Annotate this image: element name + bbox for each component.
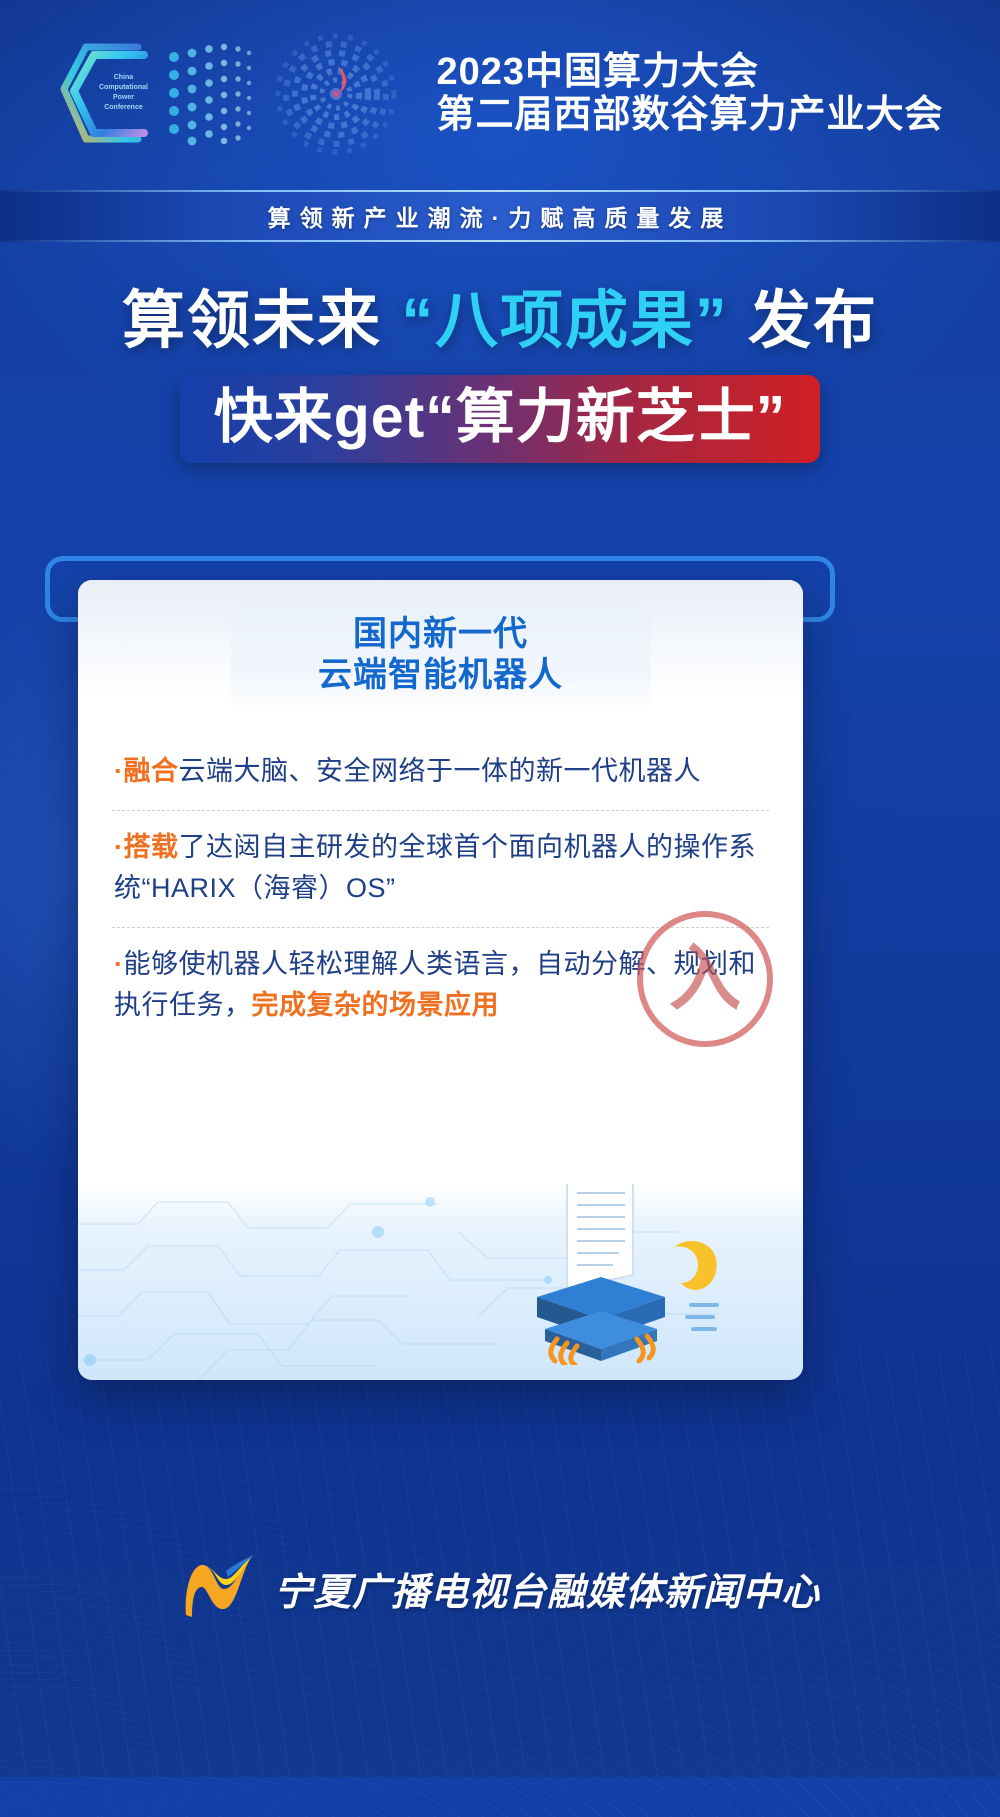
list-item: ·融合云端大脑、安全网络于一体的新一代机器人 [112, 735, 769, 810]
headline-line-1-highlight: “八项成果” [402, 286, 729, 356]
headline-line-1-part-2: 发布 [729, 286, 879, 356]
list-item: ·能够使机器人轻松理解人类语言，自动分解、规划和执行任务，完成复杂的场景应用 [112, 927, 769, 1044]
conference-title-line-2: 第二届西部数谷算力产业大会 [436, 94, 943, 137]
headline-line-2-banner: 快来get“算力新芝士” [180, 375, 821, 463]
content-card: 国内新一代 云端智能机器人 ·融合云端大脑、安全网络于一体的新一代机器人 ·搭载… [78, 580, 803, 1380]
bullet-tail-highlight: 完成复杂的场景应用 [252, 990, 500, 1020]
bullet-highlight: 搭载 [124, 832, 179, 862]
card-illustration [78, 1184, 803, 1380]
header: China Computational Power Conference [0, 0, 1000, 188]
card-title-line-1: 国内新一代 [241, 614, 641, 655]
bullet-list: ·融合云端大脑、安全网络于一体的新一代机器人 ·搭载了达闼自主研发的全球首个面向… [112, 735, 769, 1044]
headline-line-1-part-1: 算领未来 [122, 286, 402, 356]
slogan-band: 算领新产业潮流·力赋高质量发展 [0, 190, 1000, 242]
logo-text-line-2: Computational [84, 83, 162, 93]
headline-line-1: 算领未来 “八项成果” 发布 [0, 290, 1000, 353]
bullet-text: 了达闼自主研发的全球首个面向机器人的操作系统“HARIX（海睿）OS” [114, 832, 756, 903]
card-title-line-2: 云端智能机器人 [241, 655, 641, 696]
server-illustration-icon [515, 1184, 725, 1370]
bullet-text: 云端大脑、安全网络于一体的新一代机器人 [179, 756, 702, 786]
logo-text-line-3: Power [84, 93, 162, 103]
china-computational-power-conference-logo-icon: China Computational Power Conference [56, 33, 164, 155]
headline: 算领未来 “八项成果” 发布 快来get“算力新芝士” [0, 290, 1000, 463]
broadcaster-n-logo-icon [180, 1555, 260, 1621]
slogan-text: 算领新产业潮流·力赋高质量发展 [268, 199, 733, 233]
bullet-marker: · [114, 832, 124, 862]
logo-text-line-1: China [84, 73, 162, 83]
bullet-highlight: 融合 [124, 756, 179, 786]
conference-title-line-1: 2023中国算力大会 [436, 51, 943, 94]
radial-fan-logo-icon [272, 32, 400, 156]
footer-organization-name: 宁夏广播电视台融媒体新闻中心 [274, 1561, 820, 1616]
dot-grid-icon [166, 35, 252, 153]
logo-text-line-4: Conference [84, 103, 162, 113]
footer: 宁夏广播电视台融媒体新闻中心 [0, 1517, 1000, 1777]
list-item: ·搭载了达闼自主研发的全球首个面向机器人的操作系统“HARIX（海睿）OS” [112, 810, 769, 927]
bullet-marker: · [114, 949, 124, 979]
card-title-badge: 国内新一代 云端智能机器人 [231, 602, 651, 713]
conference-title: 2023中国算力大会 第二届西部数谷算力产业大会 [436, 51, 943, 136]
bullet-marker: · [114, 756, 124, 786]
